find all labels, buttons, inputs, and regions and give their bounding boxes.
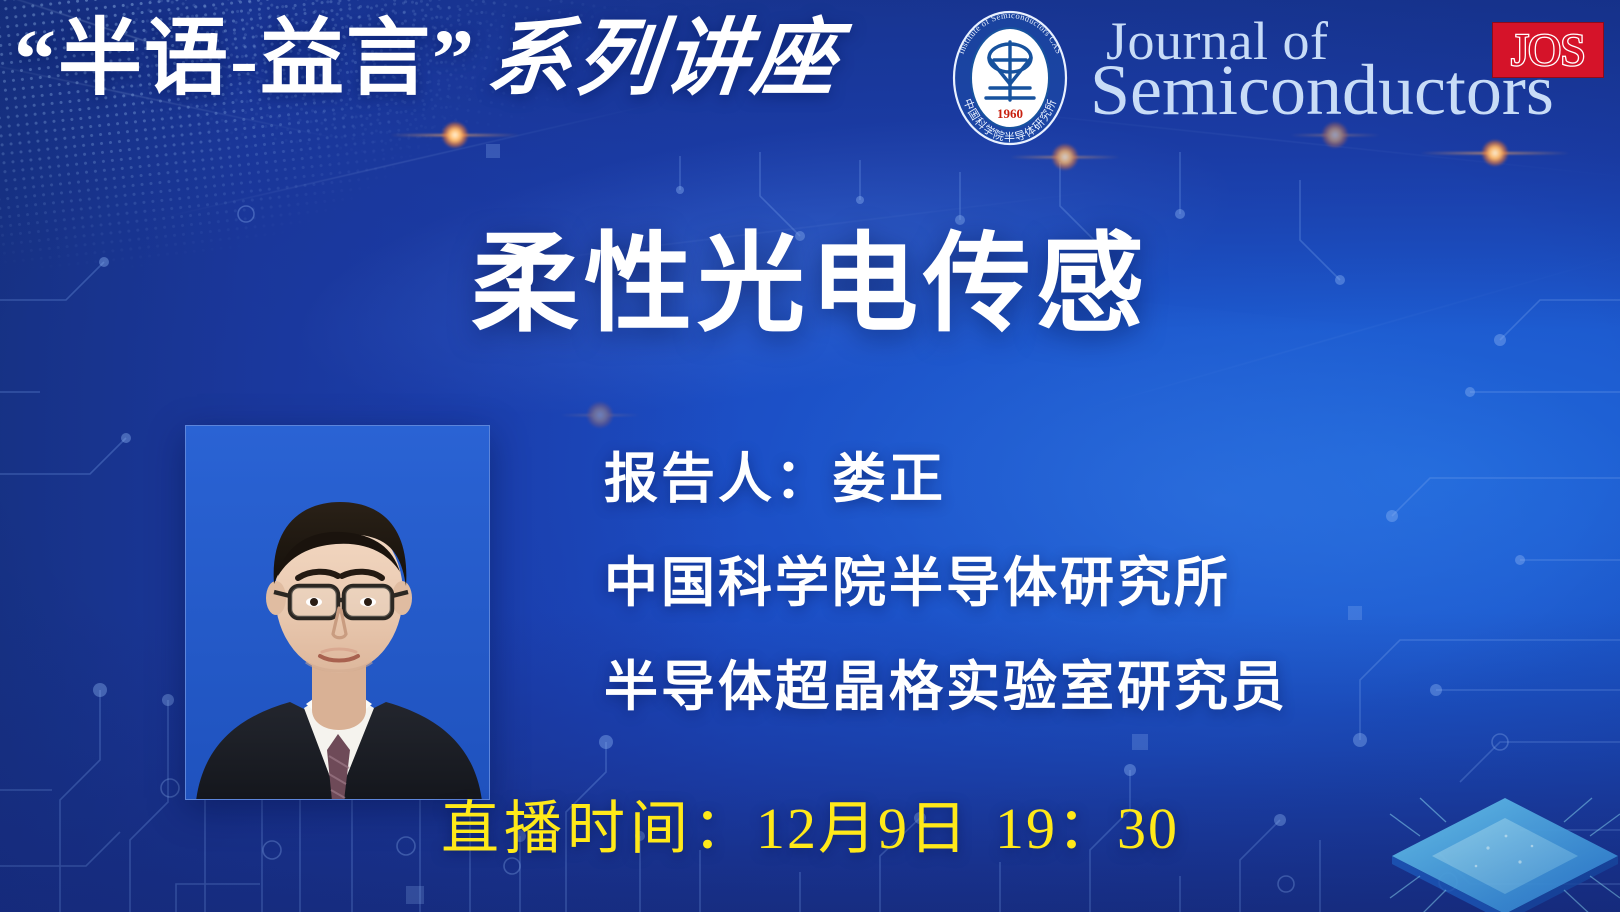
speaker-affiliation-line: 中国科学院半导体研究所 xyxy=(604,556,1484,610)
speaker-portrait-image xyxy=(186,426,490,800)
series-title-quoted: “半语-益言” xyxy=(14,13,476,106)
speaker-info: 报告人：娄正 中国科学院半导体研究所 半导体超晶格实验室研究员 xyxy=(604,452,1484,714)
cas-institute-seal-logo: 1960 Institute of Semiconductors CAS 中国科… xyxy=(944,8,1076,146)
poster-header: “半语-益言”系列讲座 1960 Institute o xyxy=(0,0,1620,152)
journal-logo-line-2: Semiconductors xyxy=(1090,54,1554,126)
speaker-title-line: 半导体超晶格实验室研究员 xyxy=(604,660,1484,714)
series-title: “半语-益言”系列讲座 xyxy=(14,16,840,102)
speaker-portrait xyxy=(185,425,490,800)
jos-badge-label: JOS xyxy=(1511,27,1585,73)
broadcast-date: 12月9日 xyxy=(756,796,969,861)
jos-badge: JOS xyxy=(1492,22,1604,78)
broadcast-clock: 19：30 xyxy=(995,796,1179,861)
seal-year: 1960 xyxy=(997,106,1023,121)
broadcast-label: 直播时间： xyxy=(441,796,756,861)
series-title-cursive: 系列讲座 xyxy=(484,18,845,102)
journal-of-semiconductors-logo: Journal of Semiconductors xyxy=(1090,10,1530,140)
lecture-poster: “半语-益言”系列讲座 1960 Institute o xyxy=(0,0,1620,912)
speaker-name-line: 报告人：娄正 xyxy=(604,452,1484,506)
broadcast-time: 直播时间：12月9日19：30 xyxy=(0,800,1620,858)
lecture-title: 柔性光电传感 xyxy=(0,224,1620,345)
